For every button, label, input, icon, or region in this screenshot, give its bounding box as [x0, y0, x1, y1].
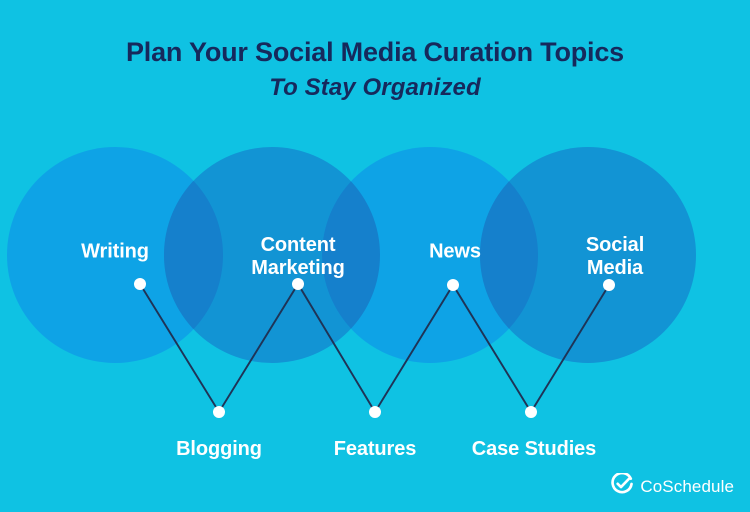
bottom-node-label: Features: [334, 438, 417, 461]
zigzag-node-dot[interactable]: [213, 406, 225, 418]
bottom-node-label: Case Studies: [472, 438, 596, 461]
coschedule-logo: CoSchedule: [611, 473, 734, 500]
check-circle-icon: [611, 473, 633, 500]
zigzag-node-dot[interactable]: [603, 279, 615, 291]
venn-diagram: [0, 0, 750, 512]
zigzag-node-dot[interactable]: [525, 406, 537, 418]
zigzag-node-dot[interactable]: [369, 406, 381, 418]
zigzag-node-dot[interactable]: [292, 278, 304, 290]
zigzag-node-dot[interactable]: [447, 279, 459, 291]
venn-circle-group: [7, 147, 696, 363]
bottom-node-label: Blogging: [176, 438, 262, 461]
logo-wordmark: CoSchedule: [640, 477, 734, 497]
zigzag-node-dot[interactable]: [134, 278, 146, 290]
infographic-canvas: Plan Your Social Media Curation Topics T…: [0, 0, 750, 512]
